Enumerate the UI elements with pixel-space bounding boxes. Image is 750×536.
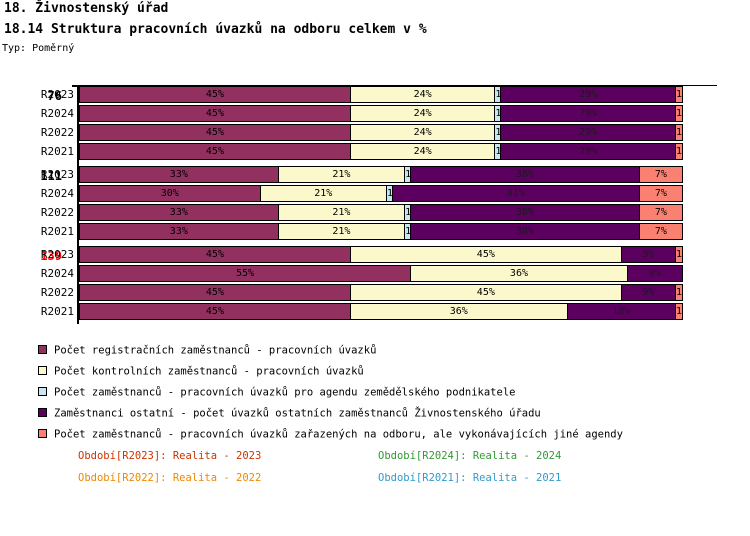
bar-segment[interactable]: 38% (411, 205, 640, 220)
stacked-bar[interactable]: 55%36%9% (79, 265, 683, 282)
stacked-bar[interactable]: 45%45%9%1% (79, 246, 683, 263)
row-period-label: R2024 (0, 104, 74, 123)
stacked-bar[interactable]: 45%36%18%1% (79, 303, 683, 320)
chart-row[interactable]: R202345%24%1%29%1% (0, 85, 750, 104)
legend-item: Počet kontrolních zaměstnanců - pracovní… (38, 361, 364, 381)
bar-segment[interactable]: 41% (393, 186, 640, 201)
stacked-bar[interactable]: 45%24%1%29%1% (79, 143, 683, 160)
row-period-label: R2023 (0, 165, 74, 184)
bar-segment[interactable]: 1% (676, 87, 682, 102)
bar-segment[interactable]: 7% (640, 167, 682, 182)
chart-row[interactable]: R202133%21%1%38%7% (0, 222, 750, 241)
period-legend-item: Období[R2021]: Realita - 2021 (378, 472, 561, 484)
bar-segment[interactable]: 7% (640, 224, 682, 239)
bar-segment[interactable]: 9% (628, 266, 682, 281)
bar-segment[interactable]: 45% (80, 125, 351, 140)
bar-segment[interactable]: 30% (80, 186, 261, 201)
legend-swatch-icon (38, 408, 47, 417)
bar-segment[interactable]: 45% (351, 247, 622, 262)
row-period-label: R2023 (0, 245, 74, 264)
row-period-label: R2021 (0, 222, 74, 241)
chart-row[interactable]: R202233%21%1%38%7% (0, 203, 750, 222)
bar-segment[interactable]: 1% (676, 247, 682, 262)
stacked-bar[interactable]: 45%24%1%29%1% (79, 124, 683, 141)
bar-segment[interactable]: 45% (80, 247, 351, 262)
stacked-bar[interactable]: 45%45%9%1% (79, 284, 683, 301)
stacked-bar[interactable]: 33%21%1%38%7% (79, 223, 683, 240)
bar-segment[interactable]: 1% (676, 144, 682, 159)
bar-segment[interactable]: 45% (351, 285, 622, 300)
bar-segment[interactable]: 1% (676, 106, 682, 121)
row-period-label: R2022 (0, 123, 74, 142)
bar-segment[interactable]: 38% (411, 167, 640, 182)
bar-segment[interactable]: 7% (640, 186, 682, 201)
bar-group: 139R202345%45%9%1%R202455%36%9%R202245%4… (0, 245, 750, 321)
period-legend-item: Období[R2023]: Realita - 2023 (78, 450, 261, 462)
stacked-bar[interactable]: 33%21%1%38%7% (79, 204, 683, 221)
legend-item: Počet zaměstnanců - pracovních úvazků pr… (38, 382, 515, 402)
bar-segment[interactable]: 33% (80, 224, 279, 239)
axis-top-rule (77, 85, 717, 86)
period-legend-item: Období[R2024]: Realita - 2024 (378, 450, 561, 462)
page-title: 18. Živnostenský úřad (4, 1, 168, 16)
chart-row[interactable]: R202245%45%9%1% (0, 283, 750, 302)
bar-segment[interactable]: 29% (501, 87, 676, 102)
chart-row[interactable]: R202455%36%9% (0, 264, 750, 283)
bar-segment[interactable]: 1% (676, 304, 682, 319)
chart-row[interactable]: R202245%24%1%29%1% (0, 123, 750, 142)
row-period-label: R2023 (0, 85, 74, 104)
row-period-label: R2024 (0, 264, 74, 283)
bar-segment[interactable]: 38% (411, 224, 640, 239)
bar-segment[interactable]: 36% (351, 304, 568, 319)
bar-segment[interactable]: 33% (80, 167, 279, 182)
row-period-label: R2022 (0, 203, 74, 222)
bar-segment[interactable]: 1% (676, 125, 682, 140)
legend-swatch-icon (38, 429, 47, 438)
row-period-label: R2021 (0, 302, 74, 321)
bar-segment[interactable]: 29% (501, 144, 676, 159)
bar-segment[interactable]: 24% (351, 106, 495, 121)
row-period-label: R2024 (0, 184, 74, 203)
bar-segment[interactable]: 29% (501, 125, 676, 140)
legend-swatch-icon (38, 366, 47, 375)
legend-item-label: Počet registračních zaměstnanců - pracov… (54, 345, 376, 357)
bar-segment[interactable]: 45% (80, 304, 351, 319)
bar-segment[interactable]: 45% (80, 106, 351, 121)
bar-segment[interactable]: 45% (80, 87, 351, 102)
bar-segment[interactable]: 1% (676, 285, 682, 300)
bar-segment[interactable]: 18% (568, 304, 676, 319)
bar-segment[interactable]: 29% (501, 106, 676, 121)
chart-row[interactable]: R202333%21%1%38%7% (0, 165, 750, 184)
chart-row[interactable]: R202445%24%1%29%1% (0, 104, 750, 123)
bar-segment[interactable]: 36% (411, 266, 628, 281)
chart-row[interactable]: R202430%21%1%41%7% (0, 184, 750, 203)
bar-segment[interactable]: 45% (80, 285, 351, 300)
page-subtitle: 18.14 Struktura pracovních úvazků na odb… (4, 22, 427, 37)
chart-row[interactable]: R202145%24%1%29%1% (0, 142, 750, 161)
stacked-bar[interactable]: 45%24%1%29%1% (79, 86, 683, 103)
legend-item-label: Počet zaměstnanců - pracovních úvazků za… (54, 429, 623, 441)
row-period-label: R2021 (0, 142, 74, 161)
legend-item: Zaměstnanci ostatní - počet úvazků ostat… (38, 403, 541, 423)
legend-item: Počet registračních zaměstnanců - pracov… (38, 340, 376, 360)
row-period-label: R2022 (0, 283, 74, 302)
legend-item-label: Zaměstnanci ostatní - počet úvazků ostat… (54, 408, 541, 420)
bar-segment[interactable]: 21% (279, 167, 405, 182)
chart-type-label: Typ: Poměrný (2, 43, 74, 54)
bar-segment[interactable]: 9% (622, 247, 676, 262)
bar-segment[interactable]: 9% (622, 285, 676, 300)
legend-item-label: Počet kontrolních zaměstnanců - pracovní… (54, 366, 364, 378)
stacked-bar-chart: 76R202345%24%1%29%1%R202445%24%1%29%1%R2… (0, 85, 750, 325)
chart-row[interactable]: R202345%45%9%1% (0, 245, 750, 264)
bar-segment[interactable]: 45% (80, 144, 351, 159)
legend-item-label: Počet zaměstnanců - pracovních úvazků pr… (54, 387, 515, 399)
chart-row[interactable]: R202145%36%18%1% (0, 302, 750, 321)
bar-group: 111R202333%21%1%38%7%R202430%21%1%41%7%R… (0, 165, 750, 241)
bar-segment[interactable]: 24% (351, 144, 495, 159)
bar-segment[interactable]: 21% (279, 224, 405, 239)
legend-swatch-icon (38, 345, 47, 354)
bar-segment[interactable]: 55% (80, 266, 411, 281)
bar-segment[interactable]: 24% (351, 87, 495, 102)
stacked-bar[interactable]: 45%24%1%29%1% (79, 105, 683, 122)
bar-segment[interactable]: 24% (351, 125, 495, 140)
legend-item: Počet zaměstnanců - pracovních úvazků za… (38, 424, 623, 444)
bar-segment[interactable]: 7% (640, 205, 682, 220)
stacked-bar[interactable]: 33%21%1%38%7% (79, 166, 683, 183)
legend-swatch-icon (38, 387, 47, 396)
bar-segment[interactable]: 21% (261, 186, 387, 201)
stacked-bar[interactable]: 30%21%1%41%7% (79, 185, 683, 202)
period-legend-item: Období[R2022]: Realita - 2022 (78, 472, 261, 484)
bar-segment[interactable]: 33% (80, 205, 279, 220)
bar-segment[interactable]: 21% (279, 205, 405, 220)
bar-group: 76R202345%24%1%29%1%R202445%24%1%29%1%R2… (0, 85, 750, 161)
